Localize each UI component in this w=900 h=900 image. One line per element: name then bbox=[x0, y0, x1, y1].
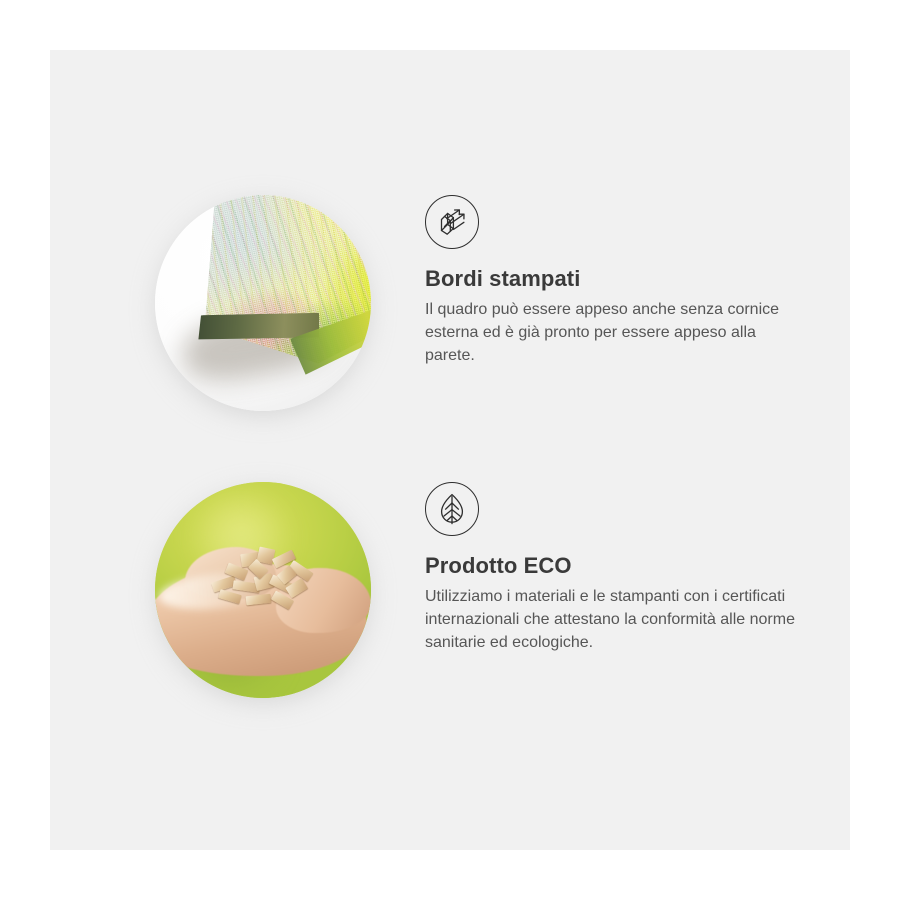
feature-copy-eco-product: Prodotto ECO Utilizziamo i materiali e l… bbox=[425, 482, 805, 654]
leaf-icon bbox=[425, 482, 479, 536]
photo-eco-scene bbox=[155, 482, 371, 698]
feature-copy-printed-edges: Bordi stampati Il quadro può essere appe… bbox=[425, 195, 805, 367]
eco-wood-chips-photo bbox=[155, 482, 371, 698]
feature-title: Bordi stampati bbox=[425, 267, 805, 291]
leaf-glyph bbox=[435, 492, 469, 526]
printed-edges-glyph bbox=[435, 205, 469, 239]
feature-title: Prodotto ECO bbox=[425, 554, 805, 578]
feature-description: Il quadro può essere appeso anche senza … bbox=[425, 298, 795, 367]
product-feature-page: Bordi stampati Il quadro può essere appe… bbox=[0, 0, 900, 900]
printed-edges-icon bbox=[425, 195, 479, 249]
photo-canvas-scene bbox=[155, 195, 371, 411]
wood-chips-pile bbox=[207, 547, 328, 620]
media-circle-mask bbox=[155, 195, 371, 411]
canvas-edge-photo bbox=[155, 195, 371, 411]
media-circle-mask bbox=[155, 482, 371, 698]
feature-description: Utilizziamo i materiali e le stampanti c… bbox=[425, 585, 795, 654]
content-panel: Bordi stampati Il quadro può essere appe… bbox=[50, 50, 850, 850]
